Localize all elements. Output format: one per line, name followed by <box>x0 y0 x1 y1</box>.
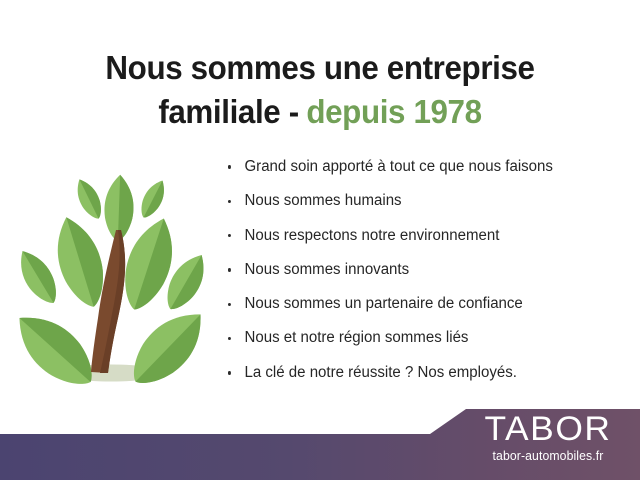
tree-illustration <box>8 152 220 387</box>
page-title-accent: depuis 1978 <box>306 93 481 130</box>
list-item-label: La clé de notre réussite ? Nos employés. <box>244 364 516 381</box>
leaf-lower-right <box>120 299 217 387</box>
page-title-line-2: familiale -depuis 1978 <box>16 92 624 132</box>
leaf-small-left <box>71 175 107 222</box>
list-item-label: Grand soin apporté à tout ce que nous fa… <box>244 158 552 175</box>
leaf-lower-left <box>8 301 106 387</box>
slide-canvas: Nous sommes une entreprise familiale -de… <box>0 0 640 480</box>
list-item-label: Nous et notre région sommes liés <box>244 329 468 346</box>
page-title-line-2-main: familiale - <box>158 93 298 130</box>
bullet-icon <box>228 371 231 374</box>
leaf-mid-left <box>11 244 65 309</box>
page-title-line-1: Nous sommes une entreprise <box>105 49 534 86</box>
leaf-small-right <box>136 176 171 221</box>
list-item: La clé de notre réussite ? Nos employés. <box>228 356 616 390</box>
bullet-icon <box>228 200 231 203</box>
bullet-icon <box>228 165 231 168</box>
brand-logo[interactable]: TABOR tabor-automobiles.fr <box>464 412 632 464</box>
list-item-label: Nous sommes humains <box>244 192 401 209</box>
brand-tagline: tabor-automobiles.fr <box>466 449 631 464</box>
list-item-label: Nous sommes un partenaire de confiance <box>244 295 522 312</box>
bullet-icon <box>228 268 231 271</box>
benefits-list: Grand soin apporté à tout ce que nous fa… <box>228 150 628 390</box>
list-item: Nous respectons notre environnement <box>228 219 616 253</box>
list-item: Nous sommes innovants <box>228 253 616 287</box>
bullet-icon <box>228 234 231 237</box>
bullet-icon <box>228 303 231 306</box>
list-item: Nous et notre région sommes liés <box>228 321 616 355</box>
brand-wordmark: TABOR <box>461 412 636 446</box>
tree-icon <box>8 152 220 387</box>
list-item-label: Nous sommes innovants <box>244 261 409 278</box>
list-item: Nous sommes un partenaire de confiance <box>228 287 616 321</box>
page-title: Nous sommes une entreprise familiale -de… <box>16 48 624 132</box>
list-item: Grand soin apporté à tout ce que nous fa… <box>228 150 616 184</box>
list-item-label: Nous respectons notre environnement <box>244 227 499 244</box>
list-item: Nous sommes humains <box>228 184 616 218</box>
bullet-icon <box>228 337 231 340</box>
